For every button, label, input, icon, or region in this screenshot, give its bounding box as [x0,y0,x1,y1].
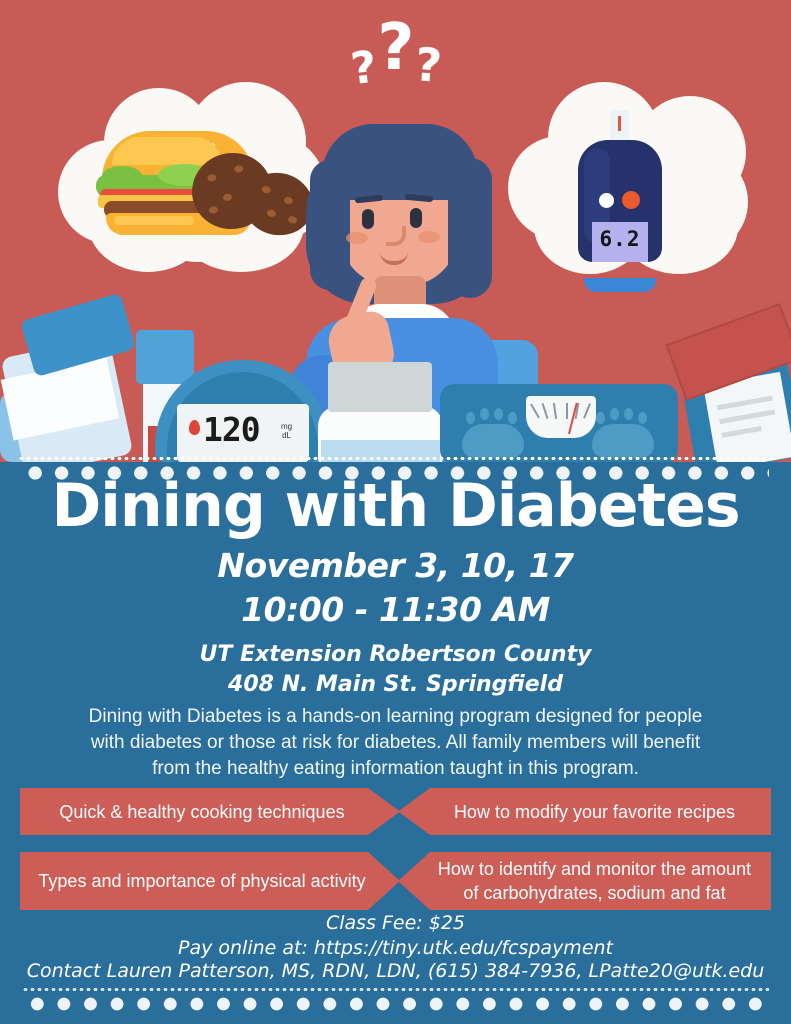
event-time: 10:00 - 11:30 AM [0,590,791,629]
venue-address: 408 N. Main St. Springfield [0,672,791,697]
footer-fine-dots [22,988,769,991]
event-dates: November 3, 10, 17 [0,546,791,585]
topic-banner: How to modify your favorite recipes [398,788,771,835]
topics-row: Types and importance of physical activit… [0,852,791,910]
blood-drop-icon [189,420,200,435]
device-unit: mg dL [281,422,292,440]
contact-info[interactable]: Contact Lauren Patterson, MS, RDN, LDN, … [0,960,791,982]
glucose-meter-icon: 6.2 [578,110,662,262]
water-bottle-icon [318,362,443,462]
question-marks-group: ? ? ? [0,16,791,80]
topic-banner: Types and importance of physical activit… [20,852,400,910]
flyer: ? ? ? [0,0,791,1024]
device-screen: 120 mg dL [177,404,309,462]
topic-banner: Quick & healthy cooking techniques [20,788,400,835]
pill-bottle-icon [4,306,124,462]
meter-button-white [599,193,614,208]
divider-fine-dots [18,457,773,460]
meter-screen: 6.2 [592,222,648,262]
hero-illustration: ? ? ? [0,0,791,462]
device-reading: 120 [203,410,260,449]
question-mark-icon: ? [377,16,412,80]
bathroom-scale-icon [440,384,678,462]
footer-large-dots [24,996,767,1012]
payment-link[interactable]: Pay online at: https://tiny.utk.edu/fcsp… [0,937,791,959]
blood-glucose-device-icon: 120 mg dL [155,360,330,462]
divider-large-dots [22,465,769,481]
dotted-divider [0,455,791,491]
meter-reading: 6.2 [592,227,648,251]
topics-row: Quick & healthy cooking techniques How t… [0,788,791,835]
scale-dial [526,396,596,438]
class-fee: Class Fee: $25 [0,912,791,934]
question-mark-icon: ? [413,41,442,89]
program-description: Dining with Diabetes is a hands-on learn… [86,704,705,782]
topics-banners: Quick & healthy cooking techniques How t… [0,788,791,927]
meter-button-orange [622,191,640,209]
medicine-box-icon [676,322,791,462]
question-mark-icon: ? [349,46,377,92]
venue-name: UT Extension Robertson County [0,642,791,667]
topic-banner: How to identify and monitor the amount o… [398,852,771,910]
